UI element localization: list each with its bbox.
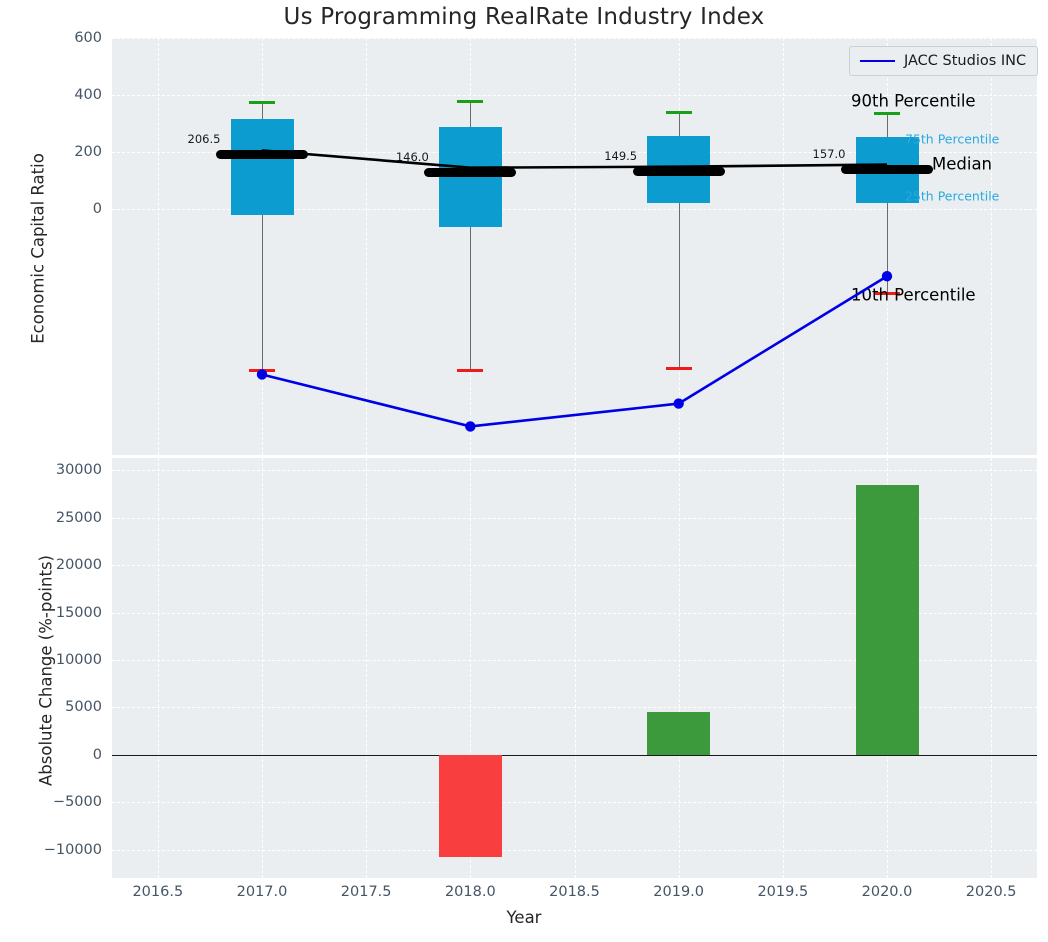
x-axis-label: Year — [0, 908, 1048, 927]
gridline-v-top-4 — [575, 38, 576, 455]
gridline-v-bottom-6 — [783, 458, 784, 878]
gridline-v-bottom-0 — [158, 458, 159, 878]
box-2017 — [231, 119, 294, 215]
cap-p90-2019 — [666, 111, 692, 114]
median-label-2018: 146.0 — [396, 150, 429, 164]
x-tick-7: 2020.0 — [862, 884, 913, 900]
annotation-90th-percentile: 90th Percentile — [851, 92, 976, 111]
chart-title: Us Programming RealRate Industry Index — [0, 4, 1048, 30]
bar-2019 — [647, 712, 710, 755]
cap-p90-2018 — [457, 100, 483, 103]
y-tick-bottom-4: 10000 — [56, 652, 102, 668]
cap-p90-2020 — [874, 112, 900, 115]
y-tick-bottom-6: 20000 — [56, 557, 102, 573]
legend-label-jacc-studios-inc: JACC Studios INC — [904, 53, 1026, 69]
cap-p90-2017 — [249, 101, 275, 104]
box-2018 — [439, 127, 502, 228]
median-bar-2020 — [841, 165, 933, 174]
gridline-v-bottom-8 — [991, 458, 992, 878]
y-tick-bottom-3: 5000 — [65, 699, 102, 715]
y-tick-bottom-5: 15000 — [56, 605, 102, 621]
y-tick-bottom-8: 30000 — [56, 462, 102, 478]
y-axis-label-bottom: Absolute Change (%-points) — [37, 521, 56, 821]
x-tick-1: 2017.0 — [237, 884, 288, 900]
legend[interactable]: JACC Studios INC — [849, 46, 1038, 76]
annotation-25th-percentile: 25th Percentile — [905, 188, 999, 203]
annotation-75th-percentile: 75th Percentile — [905, 131, 999, 146]
y-axis-label-top: Economic Capital Ratio — [29, 119, 48, 379]
legend-line-icon — [860, 60, 895, 62]
x-tick-3: 2018.0 — [445, 884, 496, 900]
y-tick-bottom-2: 0 — [93, 747, 102, 763]
bar-2018 — [439, 755, 502, 857]
y-tick-bottom-7: 25000 — [56, 510, 102, 526]
y-tick-bottom-0: −10000 — [44, 842, 102, 858]
chart-root: Us Programming RealRate Industry Index 0… — [0, 0, 1048, 942]
median-bar-2019 — [633, 167, 725, 176]
x-tick-2: 2017.5 — [341, 884, 392, 900]
gridline-v-top-6 — [783, 38, 784, 455]
annotation-median: Median — [932, 154, 992, 173]
median-bar-2018 — [424, 168, 516, 177]
cap-p10-2019 — [666, 367, 692, 370]
gridline-v-top-0 — [158, 38, 159, 455]
gridline-v-top-8 — [991, 38, 992, 455]
gridline-v-bottom-1 — [262, 458, 263, 878]
gridline-v-bottom-4 — [575, 458, 576, 878]
cap-p10-2017 — [249, 369, 275, 372]
zero-line-absolute-change — [112, 755, 1037, 756]
gridline-v-bottom-2 — [366, 458, 367, 878]
bar-2020 — [856, 485, 919, 754]
y-tick-bottom-1: −5000 — [53, 794, 102, 810]
median-bar-2017 — [216, 150, 308, 159]
median-label-2020: 157.0 — [813, 147, 846, 161]
annotation-10th-percentile: 10th Percentile — [851, 286, 976, 305]
median-label-2017: 206.5 — [188, 132, 221, 146]
cap-p10-2018 — [457, 369, 483, 372]
x-tick-6: 2019.5 — [757, 884, 808, 900]
x-tick-5: 2019.0 — [653, 884, 704, 900]
x-tick-4: 2018.5 — [549, 884, 600, 900]
gridline-v-top-2 — [366, 38, 367, 455]
median-label-2019: 149.5 — [604, 149, 637, 163]
x-tick-0: 2016.5 — [132, 884, 183, 900]
x-tick-8: 2020.5 — [966, 884, 1017, 900]
gridline-v-bottom-5 — [679, 458, 680, 878]
